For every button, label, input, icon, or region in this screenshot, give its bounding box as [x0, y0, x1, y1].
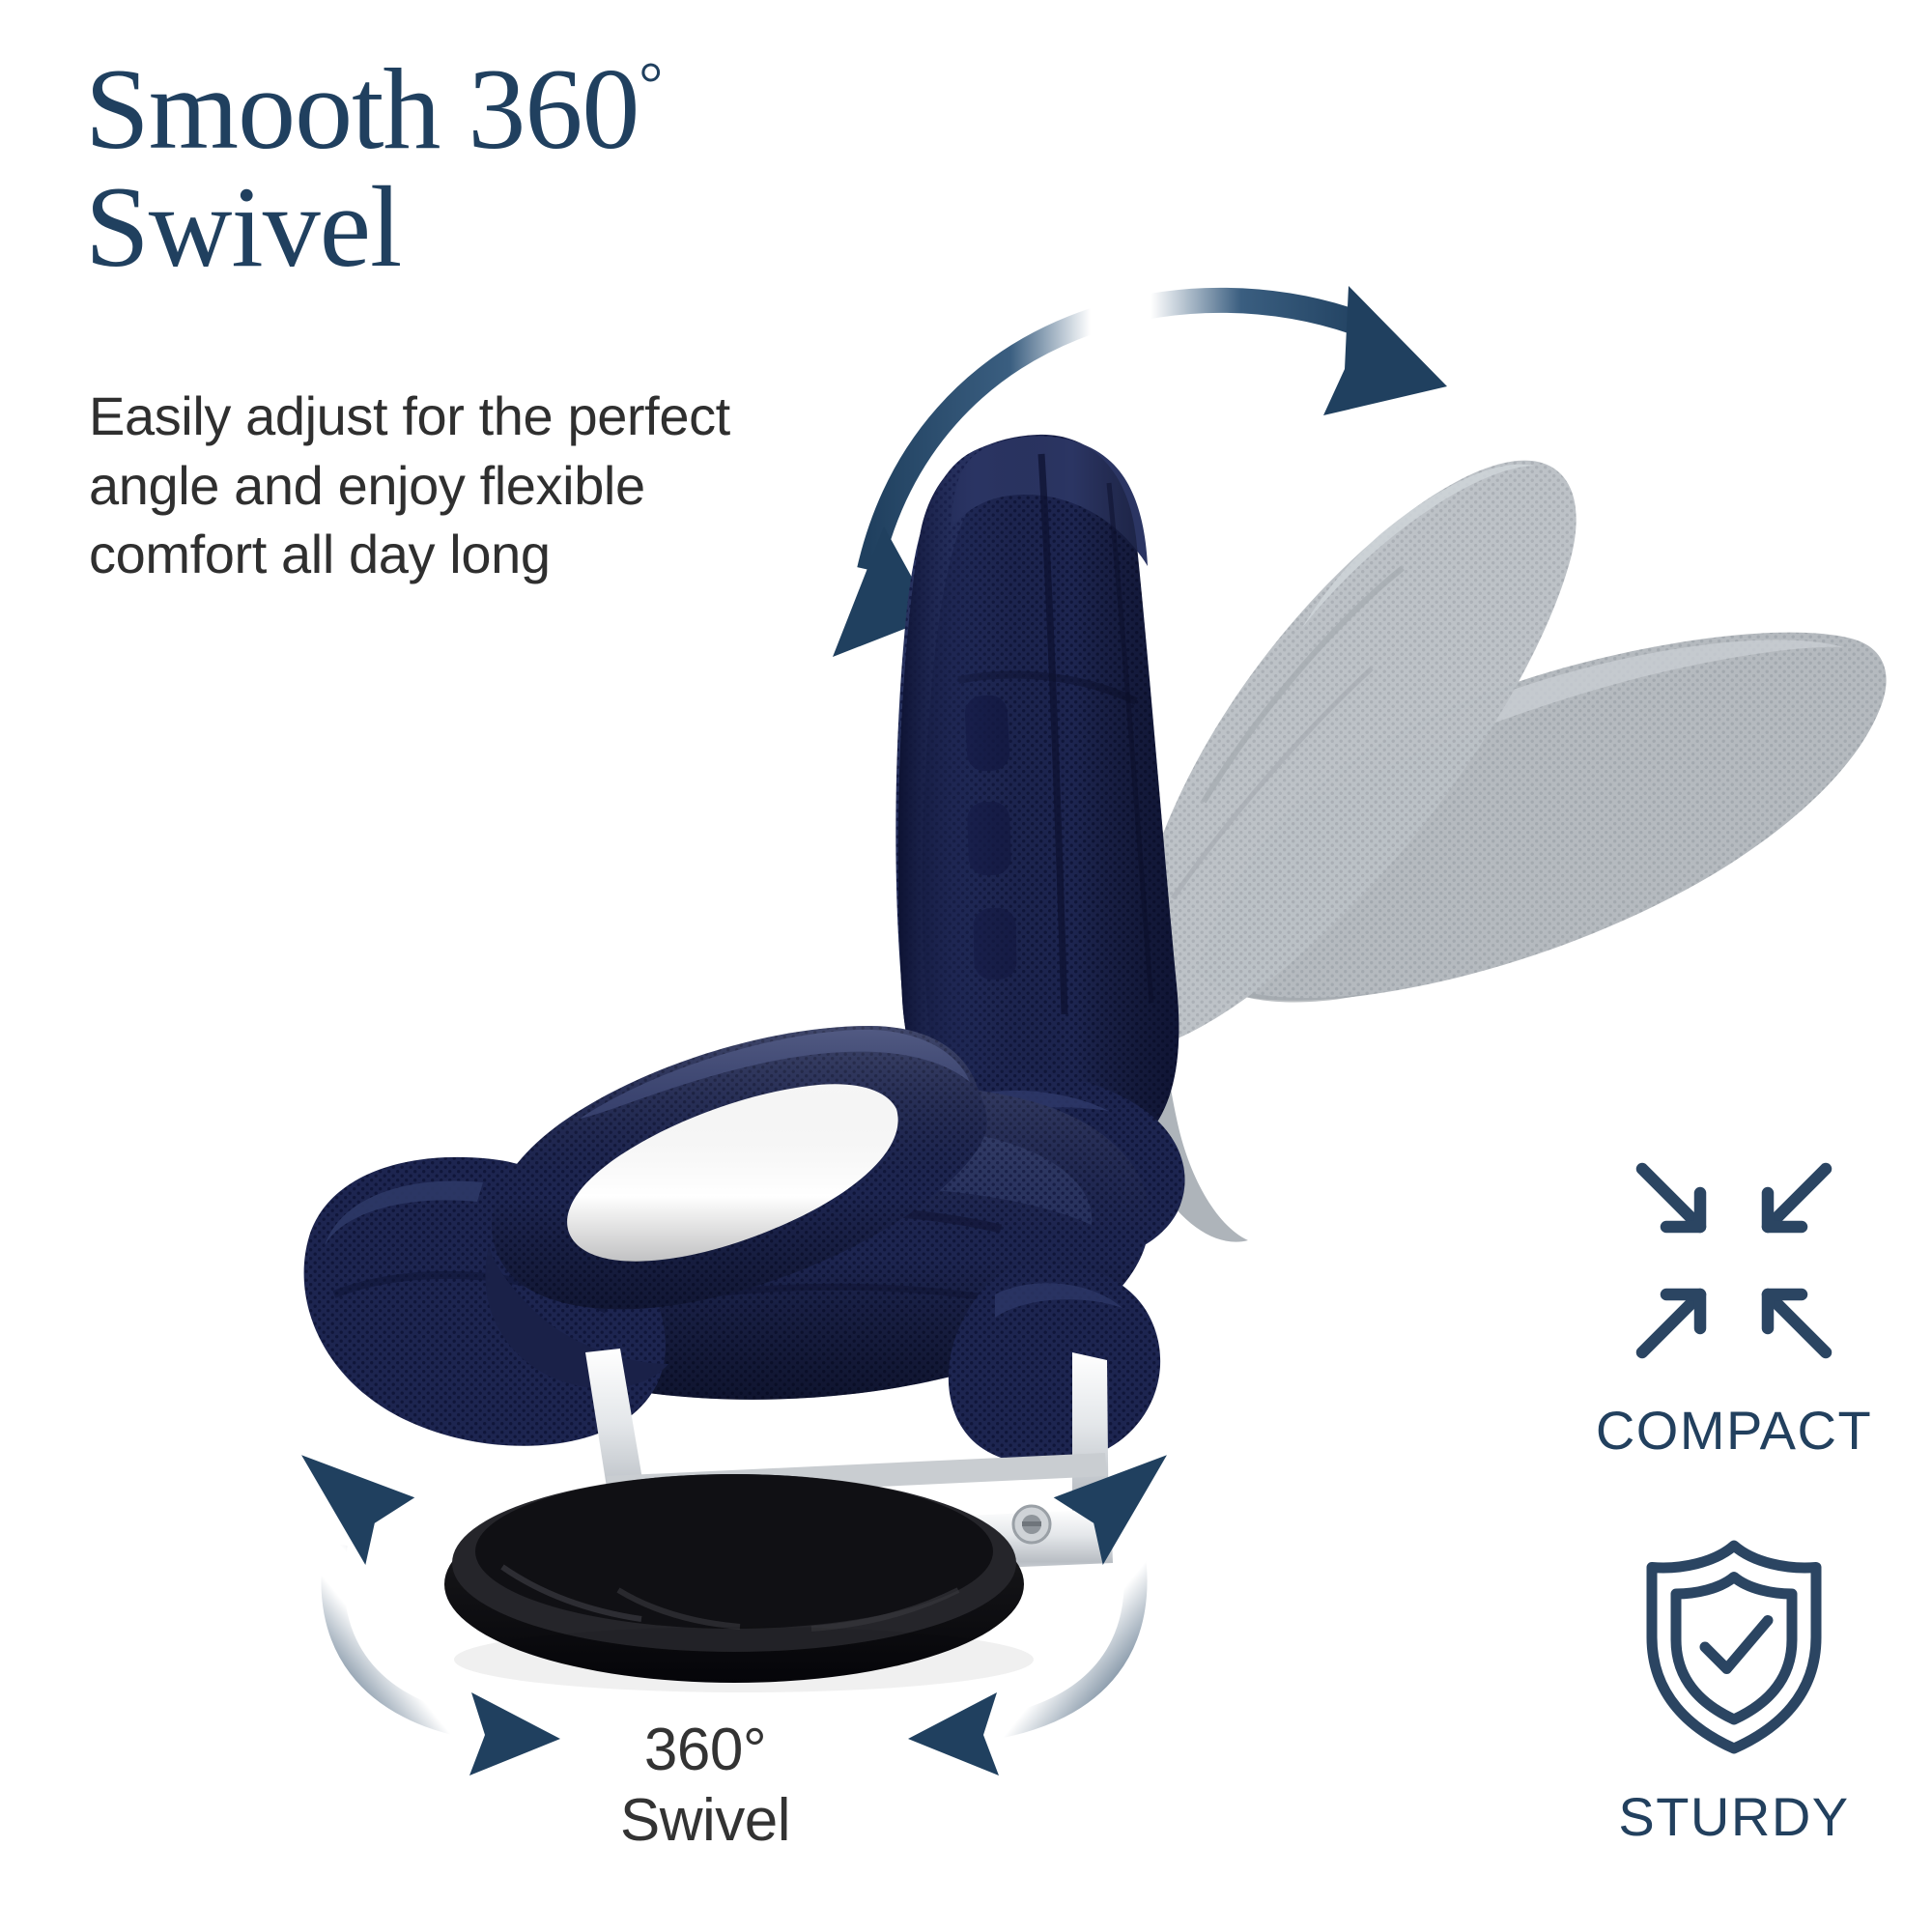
ghost-chair-position-2	[1127, 461, 1577, 1242]
subheading-line-3: comfort all day long	[89, 520, 862, 589]
swivel-arc-arrow-right	[908, 1444, 1167, 1776]
chair-chrome-frame	[585, 1349, 1113, 1584]
headline-line-2: Swivel	[85, 168, 954, 286]
chair-seat	[453, 1085, 1150, 1400]
swivel-caption: 360° Swivel	[546, 1715, 865, 1856]
swivel-label: Swivel	[546, 1785, 865, 1856]
chair-backrest	[895, 435, 1179, 1173]
shield-check-icon	[1613, 1526, 1855, 1768]
recline-arc-arrow	[833, 286, 1447, 657]
degree-symbol: °	[639, 51, 663, 117]
feature-sturdy-label: STURDY	[1575, 1785, 1893, 1848]
subheading-line-2: angle and enjoy flexible	[89, 451, 862, 521]
chair-side-bolster	[304, 1157, 666, 1446]
chair-swivel-base	[444, 1474, 1024, 1683]
ghost-chair-position-3	[1196, 633, 1887, 1003]
product-feature-card: Smooth 360° Swivel Easily adjust for the…	[0, 0, 1932, 1932]
headline-line-1: Smooth 360°	[85, 50, 954, 168]
frame-screw-left	[669, 1524, 706, 1561]
feature-compact: COMPACT	[1575, 1140, 1893, 1462]
feature-compact-label: COMPACT	[1575, 1399, 1893, 1462]
page-title: Smooth 360° Swivel	[85, 50, 954, 287]
subheading-line-1: Easily adjust for the perfect	[89, 382, 862, 451]
chair-armrest	[485, 1026, 986, 1388]
headline-line-1-text: Smooth 360	[85, 44, 639, 173]
chair-main	[304, 435, 1185, 1692]
frame-screw-right	[1013, 1506, 1050, 1543]
swivel-arc-arrow-left	[301, 1444, 560, 1776]
swivel-degrees: 360°	[546, 1715, 865, 1785]
subheading: Easily adjust for the perfect angle and …	[89, 382, 862, 589]
chair-recline-hinge	[912, 1072, 1185, 1269]
compact-arrows-icon	[1613, 1140, 1855, 1381]
chair-rear-skirt	[949, 1264, 1160, 1464]
feature-sturdy: STURDY	[1575, 1526, 1893, 1848]
